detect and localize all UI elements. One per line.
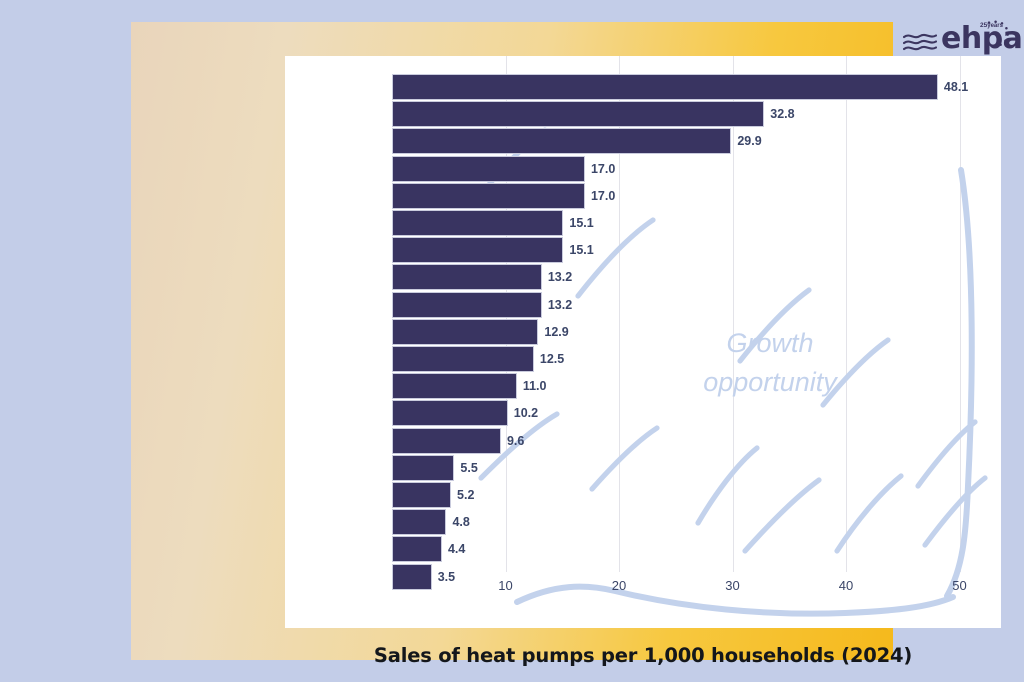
bar-value-label: 4.4 [448, 542, 465, 556]
bar-value-label: 9.6 [507, 434, 524, 448]
bar-value-label: 13.2 [548, 270, 572, 284]
bar[interactable] [392, 210, 563, 236]
bar-value-label: 17.0 [591, 189, 615, 203]
x-axis-tick-label: 50 [952, 578, 966, 593]
bar[interactable] [392, 346, 534, 372]
bar[interactable] [392, 74, 938, 100]
bar[interactable] [392, 509, 446, 535]
bar-value-label: 11.0 [523, 379, 547, 393]
chart-caption: Sales of heat pumps per 1,000 households… [285, 628, 1001, 682]
bar[interactable] [392, 428, 501, 454]
chart-card: Growth opportunity Norway48.1Finland32.8… [131, 22, 893, 660]
chart-panel: Growth opportunity Norway48.1Finland32.8… [285, 56, 1001, 628]
screenshot-root: Growth opportunity Norway48.1Finland32.8… [0, 0, 1024, 682]
bar[interactable] [392, 237, 563, 263]
bar-value-label: 12.5 [540, 352, 564, 366]
bar-value-label: 12.9 [544, 325, 568, 339]
x-axis-tick-label: 20 [612, 578, 626, 593]
bar[interactable] [392, 264, 542, 290]
bar[interactable] [392, 101, 764, 127]
bar[interactable] [392, 536, 442, 562]
bar-value-label: 5.2 [457, 488, 474, 502]
ehpa-logo[interactable]: ehpa 25years [903, 22, 1013, 66]
logo-anniversary: 25years [980, 23, 1002, 30]
bar-value-label: 32.8 [770, 107, 794, 121]
bar[interactable] [392, 373, 517, 399]
x-axis-tick-label: 30 [725, 578, 739, 593]
bar-value-label: 17.0 [591, 162, 615, 176]
bar-value-label: 29.9 [737, 134, 761, 148]
bar[interactable] [392, 564, 432, 590]
bar[interactable] [392, 482, 451, 508]
bar-value-label: 10.2 [514, 406, 538, 420]
bar[interactable] [392, 183, 585, 209]
bar-value-label: 15.1 [569, 216, 593, 230]
bar-value-label: 5.5 [460, 461, 477, 475]
bar-value-label: 3.5 [438, 570, 455, 584]
bar[interactable] [392, 400, 508, 426]
x-axis-tick-label: 10 [498, 578, 512, 593]
bar[interactable] [392, 292, 542, 318]
bar-chart: Growth opportunity Norway48.1Finland32.8… [285, 56, 1001, 628]
bar[interactable] [392, 455, 454, 481]
x-axis-tick-label: 40 [839, 578, 853, 593]
logo-anniversary-label: years [987, 23, 1003, 29]
bar-value-label: 4.8 [452, 515, 469, 529]
bar[interactable] [392, 156, 585, 182]
bar-value-label: 13.2 [548, 298, 572, 312]
bar-value-label: 15.1 [569, 243, 593, 257]
bar-value-label: 48.1 [944, 80, 968, 94]
wave-lines-icon [903, 32, 937, 54]
bar[interactable] [392, 128, 731, 154]
bar[interactable] [392, 319, 538, 345]
